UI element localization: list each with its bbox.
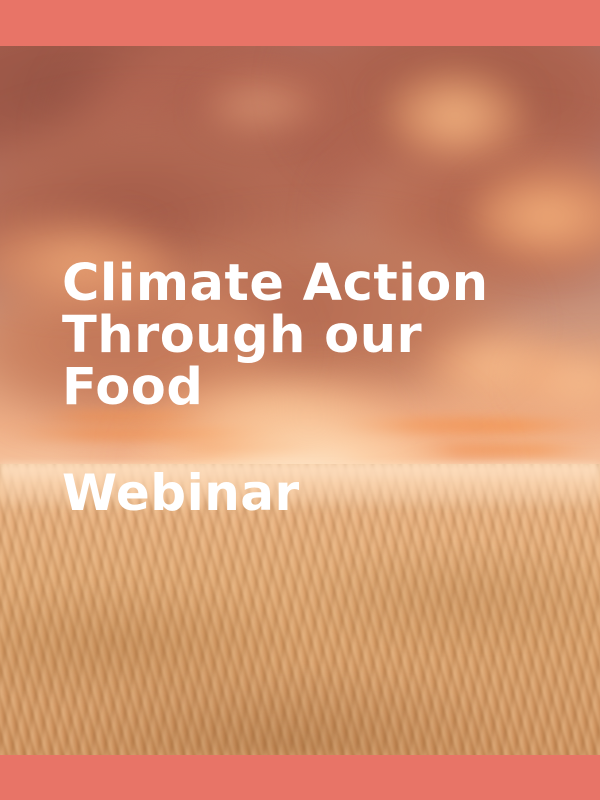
title-line-2: Through our xyxy=(62,310,532,362)
subtitle: Webinar xyxy=(62,466,300,520)
bottom-accent-band xyxy=(0,755,600,800)
top-accent-band xyxy=(0,0,600,46)
page-title: Climate Action Through our Food xyxy=(62,258,532,414)
cloud-highlight xyxy=(380,66,530,156)
title-line-3: Food xyxy=(62,362,532,414)
title-line-1: Climate Action xyxy=(62,258,532,310)
cloud-highlight xyxy=(200,76,320,136)
poster-canvas: Climate Action Through our Food Webinar xyxy=(0,0,600,800)
